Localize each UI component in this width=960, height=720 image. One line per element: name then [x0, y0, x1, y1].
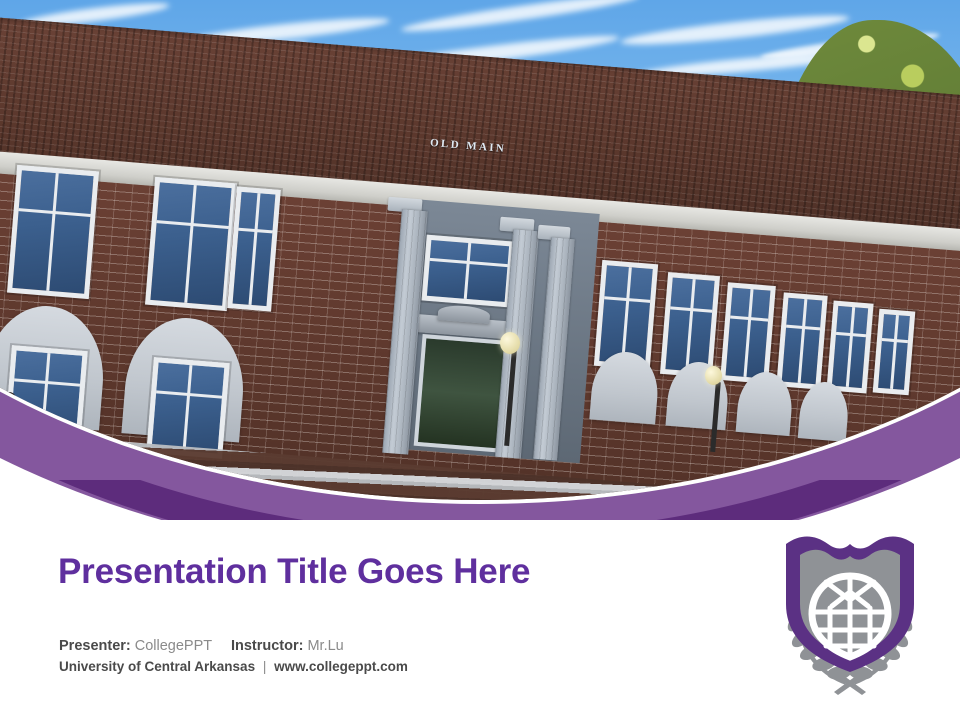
window — [720, 282, 776, 384]
window — [4, 345, 87, 447]
presenter-name: CollegePPT — [135, 638, 212, 654]
presenter-label: Presenter: — [59, 638, 131, 654]
instructor-name: Mr.Lu — [307, 638, 343, 654]
organization-line: University of Central Arkansas | www.col… — [59, 657, 408, 678]
window — [873, 309, 916, 396]
header-photo-banner: OLD MAIN — [0, 0, 960, 510]
pedestrian-silhouette — [0, 392, 16, 444]
lamp-globe — [705, 366, 722, 385]
window — [145, 177, 237, 311]
organization-name: University of Central Arkansas — [59, 659, 255, 674]
presentation-slide: OLD MAIN — [0, 0, 960, 720]
window — [776, 292, 827, 389]
window — [7, 165, 99, 299]
old-main-building: OLD MAIN — [0, 0, 960, 510]
lamp-globe — [500, 332, 520, 354]
window — [826, 301, 873, 394]
window — [660, 272, 720, 378]
presenter-instructor-line: Presenter: CollegePPT Instructor: Mr.Lu — [59, 635, 408, 657]
website-url[interactable]: www.collegeppt.com — [274, 659, 408, 674]
slide-metadata: Presenter: CollegePPT Instructor: Mr.Lu … — [59, 635, 408, 678]
instructor-label: Instructor: — [231, 638, 304, 654]
separator: | — [259, 659, 271, 674]
page-title: Presentation Title Goes Here — [58, 552, 530, 592]
balcony-window — [421, 235, 514, 308]
university-crest-logo — [770, 530, 930, 695]
